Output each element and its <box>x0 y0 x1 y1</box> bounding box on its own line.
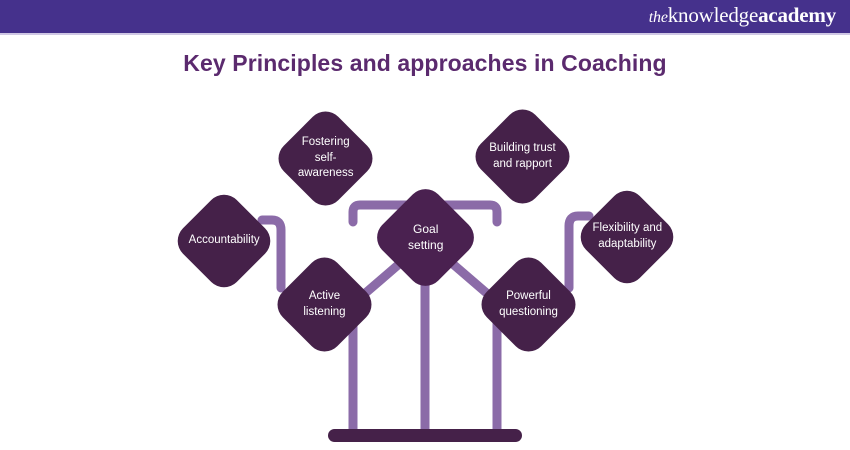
diagram: Fostering self- awareness Building trust… <box>0 0 850 450</box>
node-label: Goal setting <box>386 221 465 253</box>
node-label: Accountability <box>186 233 262 249</box>
node-label: Building trust and rapport <box>484 141 561 172</box>
node-label: Fostering self- awareness <box>287 135 364 182</box>
node-label: Active listening <box>286 289 363 320</box>
node-label: Powerful questioning <box>490 289 567 320</box>
node-label: Flexibility and adaptability <box>589 221 665 252</box>
diagram-base-bar <box>328 429 522 442</box>
connector-goal-to-powerful-questioning <box>454 265 490 296</box>
connector-goal-to-active-listening <box>362 265 398 296</box>
